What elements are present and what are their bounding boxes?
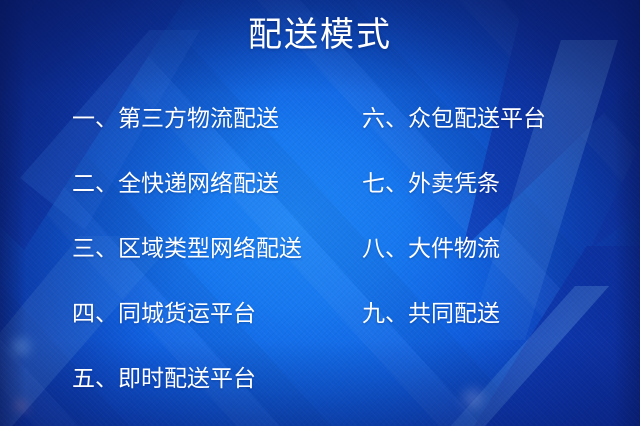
list-item-number: 六、 [362,104,408,134]
list-item-label: 全快递网络配送 [118,169,279,199]
list-item-label: 共同配送 [408,299,500,329]
page-title: 配送模式 [0,14,640,56]
list-item: 九、 共同配送 [362,281,546,346]
list-item-label: 众包配送平台 [408,104,546,134]
list-item-number: 五、 [72,364,118,394]
slide-content: 配送模式 一、 第三方物流配送 二、 全快递网络配送 三、 区域类型网络配送 四… [0,0,640,426]
list-item-number: 一、 [72,104,118,134]
list-item-number: 八、 [362,234,408,264]
list-item: 二、 全快递网络配送 [72,151,302,216]
list-item-number: 三、 [72,234,118,264]
slide-canvas: 配送模式 一、 第三方物流配送 二、 全快递网络配送 三、 区域类型网络配送 四… [0,0,640,426]
list-item-label: 外卖凭条 [408,169,500,199]
list-item-label: 即时配送平台 [118,364,256,394]
list-item: 四、 同城货运平台 [72,281,302,346]
list-item-number: 四、 [72,299,118,329]
list-item: 七、 外卖凭条 [362,151,546,216]
list-item: 六、 众包配送平台 [362,86,546,151]
list-item: 一、 第三方物流配送 [72,86,302,151]
list-item-label: 同城货运平台 [118,299,256,329]
list-item-number: 二、 [72,169,118,199]
list-item: 三、 区域类型网络配送 [72,216,302,281]
list-column-left: 一、 第三方物流配送 二、 全快递网络配送 三、 区域类型网络配送 四、 同城货… [72,86,302,411]
list-item: 八、 大件物流 [362,216,546,281]
list-item-label: 区域类型网络配送 [118,234,302,264]
list-item-label: 第三方物流配送 [118,104,279,134]
list-column-right: 六、 众包配送平台 七、 外卖凭条 八、 大件物流 九、 共同配送 [362,86,546,346]
list-item-number: 七、 [362,169,408,199]
list-item-label: 大件物流 [408,234,500,264]
list-item: 五、 即时配送平台 [72,346,302,411]
list-item-number: 九、 [362,299,408,329]
